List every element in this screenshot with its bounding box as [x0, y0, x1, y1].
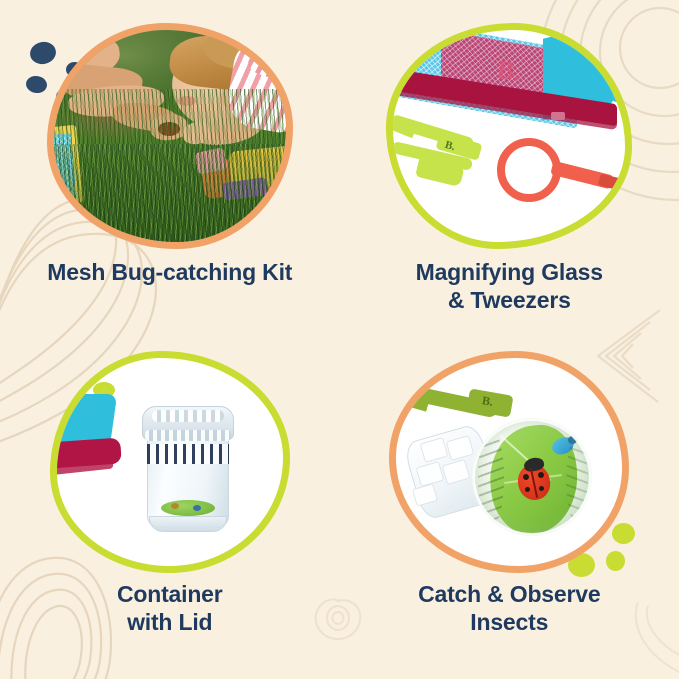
feature-caption: Magnifying Glass & Tweezers — [416, 258, 603, 314]
habitat-base-clip — [551, 112, 565, 120]
feature-image-frame — [54, 30, 286, 242]
feature-card-catch-and-observe-insects[interactable]: B. — [340, 340, 679, 679]
photo-container-with-lid — [57, 358, 283, 566]
feature-image-frame — [57, 358, 283, 566]
blob-ring-orange: B. — [396, 358, 622, 566]
feature-card-container-with-lid[interactable]: Container with Lid — [0, 340, 340, 679]
feature-card-mesh-bug-catching-kit[interactable]: Mesh Bug-catching Kit — [0, 0, 340, 340]
leaf-disc-inside-container — [161, 500, 215, 516]
bug-container-pattern-band — [147, 444, 229, 464]
blob-ring-green — [57, 358, 283, 566]
feature-image-frame: B. B. — [393, 30, 625, 242]
bug-on-leaf-2 — [193, 505, 201, 511]
photo-children-in-grass — [54, 30, 286, 242]
feature-caption: Mesh Bug-catching Kit — [47, 258, 292, 286]
photo-magnifier-and-tweezers: B. B. — [393, 30, 625, 242]
bug-container-lid-vents — [152, 410, 224, 422]
brand-mark-b: B. — [495, 54, 523, 87]
feature-grid: Mesh Bug-catching Kit B. — [0, 0, 679, 679]
feature-caption: Catch & Observe Insects — [418, 580, 600, 636]
photo-catch-and-observe: B. — [396, 358, 622, 566]
feature-grid-infographic: Mesh Bug-catching Kit B. — [0, 0, 679, 679]
blob-ring-orange — [54, 30, 286, 242]
bug-container-base-rim — [149, 516, 227, 532]
blob-ring-green: B. B. — [393, 30, 625, 242]
feature-image-frame: B. — [396, 358, 622, 566]
feature-card-magnifying-glass-and-tweezers[interactable]: B. B. — [340, 0, 679, 340]
bug-on-leaf — [171, 503, 179, 509]
feature-caption: Container with Lid — [117, 580, 223, 636]
magnifying-glass-handle-end — [598, 174, 622, 191]
bug-container-lid-ridge — [145, 430, 231, 441]
observation-case-rim — [472, 418, 592, 536]
